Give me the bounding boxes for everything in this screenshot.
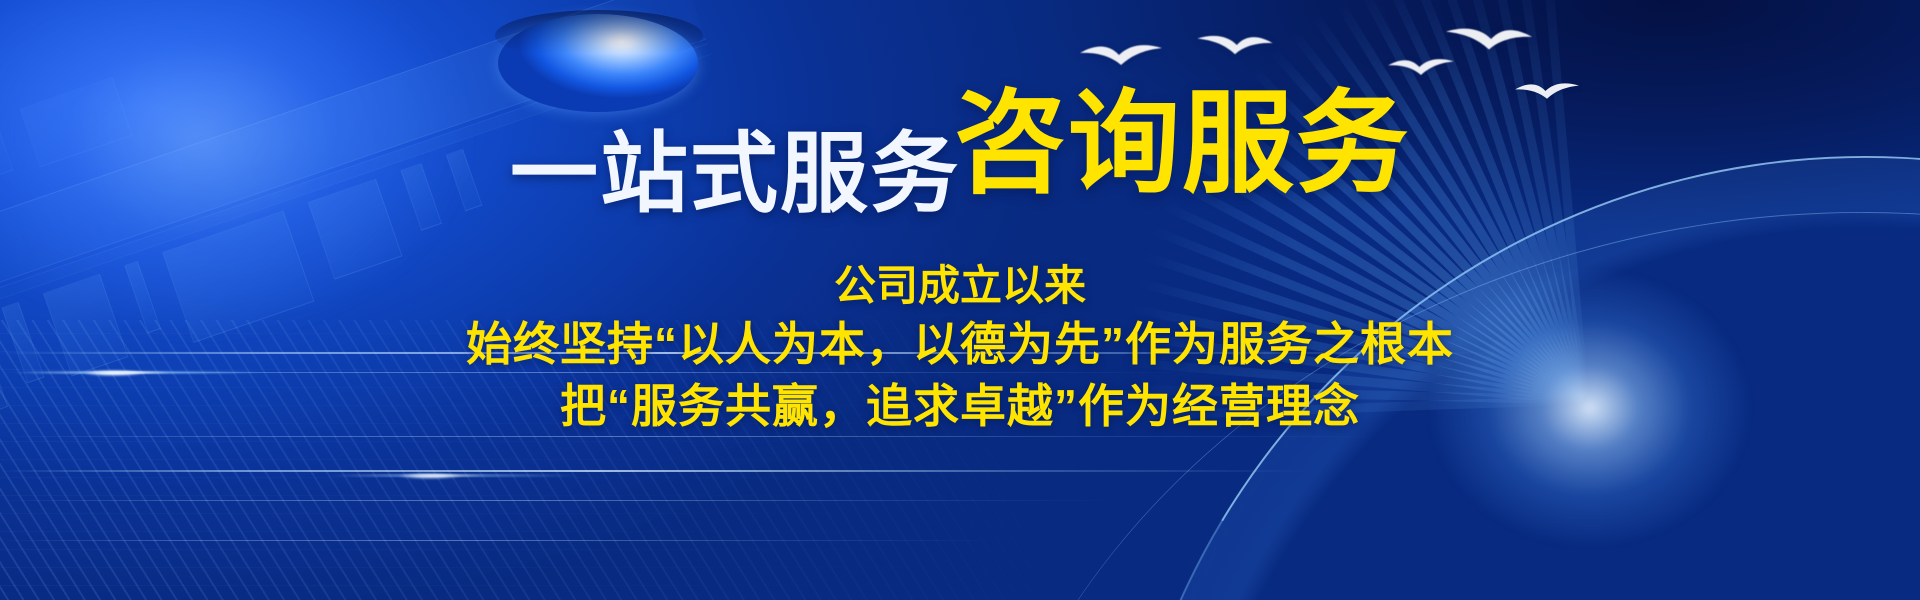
light-streak bbox=[0, 470, 1306, 472]
lens-flare-secondary bbox=[330, 468, 560, 480]
promo-banner: 一站式服务咨询服务 公司成立以来 始终坚持“以人为本，以德为先”作为服务之根本 … bbox=[0, 0, 1920, 600]
seagull-icon bbox=[1195, 29, 1274, 60]
seagull-icon bbox=[1078, 38, 1164, 72]
seagull-icon bbox=[1444, 21, 1534, 57]
headline-yellow-text: 咨询服务 bbox=[954, 81, 1410, 206]
body-line-3: 把“服务共赢，追求卓越”作为经营理念 bbox=[0, 376, 1920, 438]
light-streak bbox=[0, 540, 998, 541]
body-line-2: 始终坚持“以人为本，以德为先”作为服务之根本 bbox=[0, 314, 1920, 376]
body-line-1: 公司成立以来 bbox=[0, 258, 1920, 314]
light-streak bbox=[0, 500, 1114, 501]
headline-white-text: 一站式服务 bbox=[510, 124, 960, 223]
seagull-icon bbox=[1387, 53, 1456, 80]
body-copy: 公司成立以来 始终坚持“以人为本，以德为先”作为服务之根本 把“服务共赢，追求卓… bbox=[0, 258, 1920, 438]
headline: 一站式服务咨询服务 bbox=[0, 88, 1920, 200]
